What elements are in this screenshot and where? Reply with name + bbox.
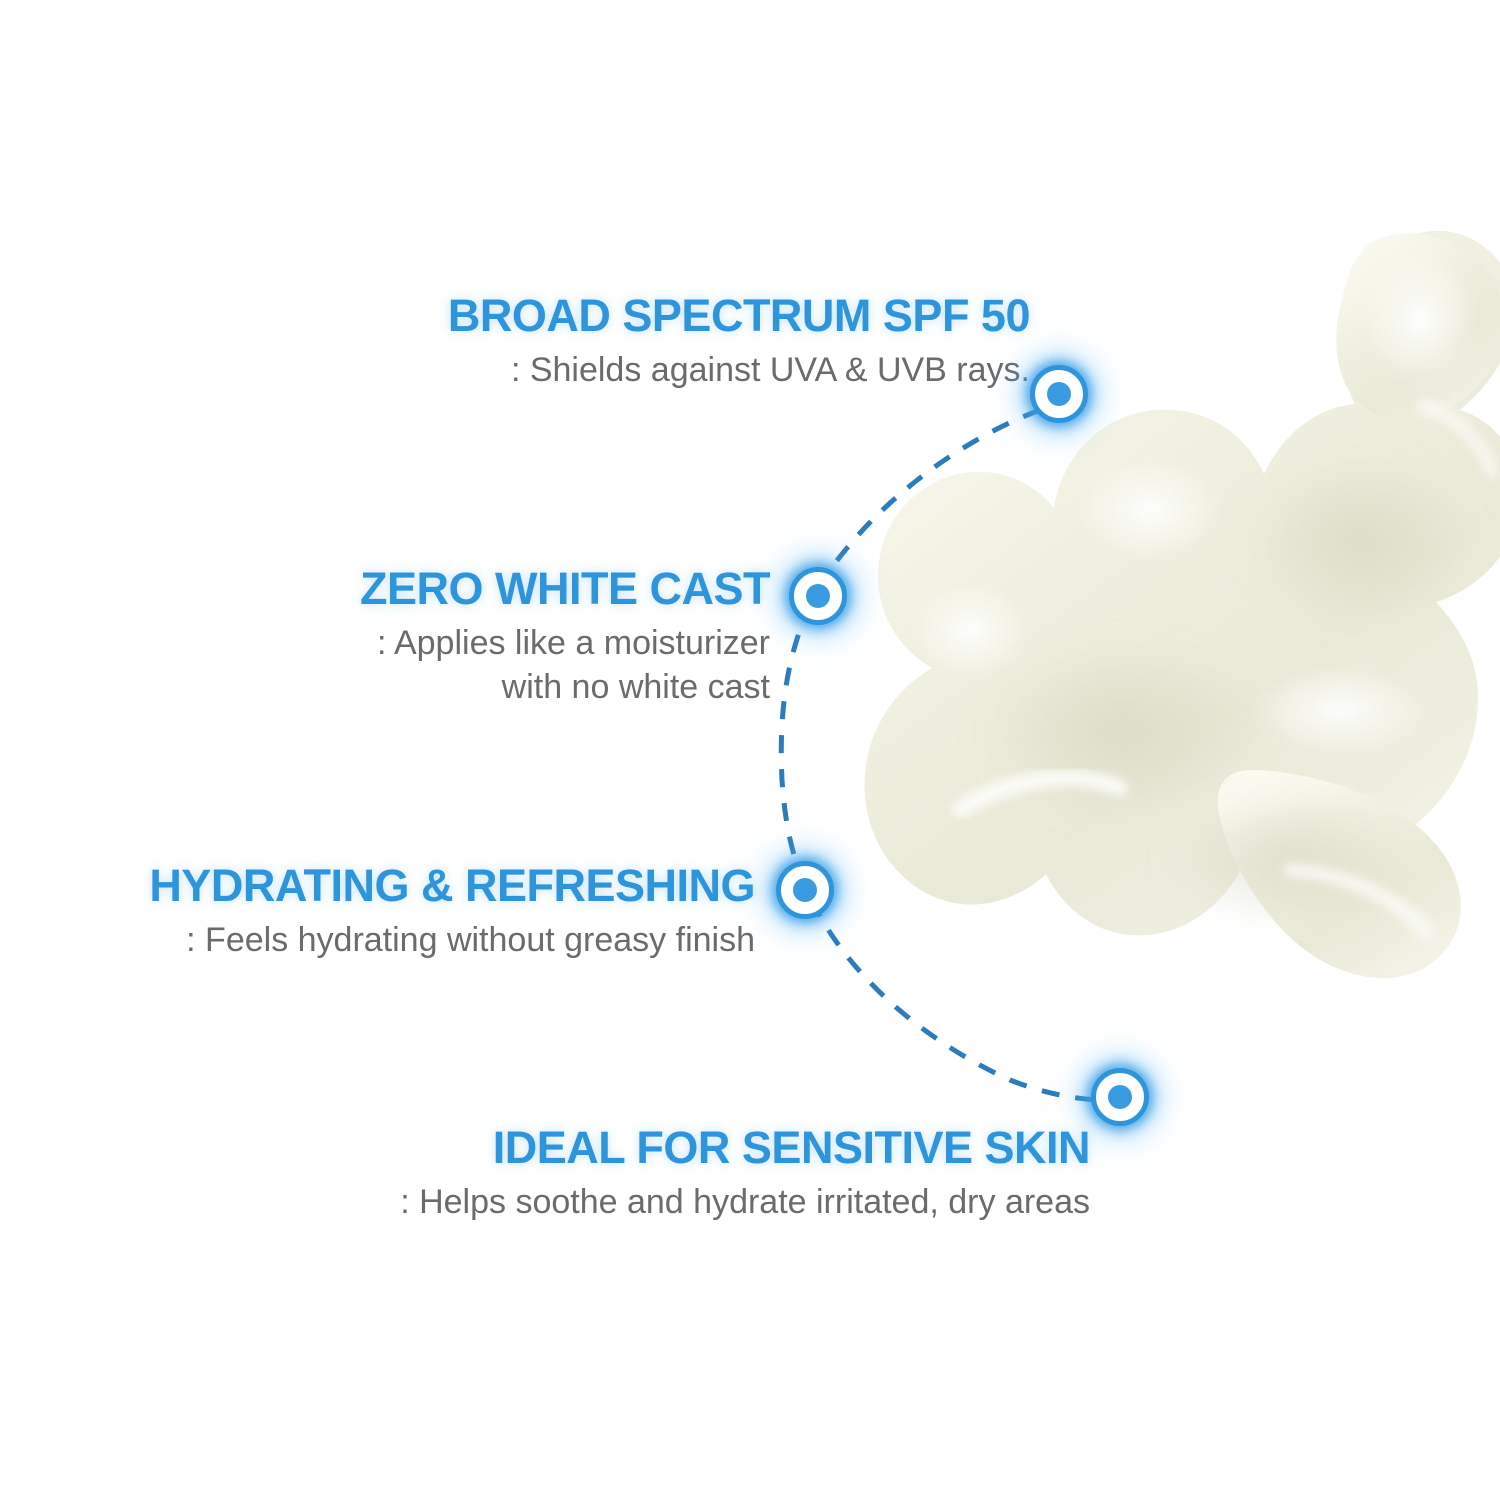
feature-marker-4: [1091, 1068, 1149, 1126]
feature-desc-1: : Shields against UVA & UVB rays.: [330, 348, 1030, 392]
marker-dot-icon: [1047, 382, 1071, 406]
feature-block-4: IDEAL FOR SENSITIVE SKIN : Helps soothe …: [300, 1124, 1090, 1224]
cream-highlight-streak-3: [1424, 406, 1492, 472]
feature-block-2: ZERO WHITE CAST : Applies like a moistur…: [280, 565, 770, 710]
feature-desc-3: : Feels hydrating without greasy finish: [100, 918, 755, 962]
dashed-arc-path: [781, 410, 1105, 1100]
cream-highlight-1: [1362, 250, 1478, 390]
feature-block-1: BROAD SPECTRUM SPF 50 : Shields against …: [330, 292, 1030, 392]
feature-title-1: BROAD SPECTRUM SPF 50: [330, 292, 1030, 339]
cream-highlight-streak-2: [1290, 870, 1426, 932]
feature-marker-3: [776, 861, 834, 919]
cream-lobe-top: [1336, 233, 1500, 421]
feature-marker-1: [1030, 365, 1088, 423]
marker-dot-icon: [793, 878, 817, 902]
feature-desc-4: : Helps soothe and hydrate irritated, dr…: [300, 1180, 1090, 1224]
feature-desc-2-line-1: : Applies like a moisturizer: [280, 621, 770, 665]
connector-arc: [0, 0, 1500, 1500]
cream-shade-2: [1240, 450, 1480, 630]
cream-tail: [1218, 770, 1461, 978]
feature-marker-2: [789, 567, 847, 625]
cream-highlight-streak-1: [960, 778, 1120, 810]
cream-shade-3: [1160, 790, 1420, 930]
feature-desc-2-line-2: with no white cast: [280, 665, 770, 709]
infographic-canvas: BROAD SPECTRUM SPF 50 : Shields against …: [0, 0, 1500, 1500]
feature-title-2: ZERO WHITE CAST: [280, 565, 770, 612]
feature-desc-2: : Applies like a moisturizer with no whi…: [280, 621, 770, 709]
cream-highlight-4: [1250, 664, 1430, 756]
feature-block-3: HYDRATING & REFRESHING : Feels hydrating…: [100, 862, 755, 962]
feature-title-4: IDEAL FOR SENSITIVE SKIN: [300, 1124, 1090, 1171]
cream-shade-1: [970, 635, 1270, 825]
cream-highlight-2: [1078, 458, 1222, 562]
marker-dot-icon: [1108, 1085, 1132, 1109]
marker-dot-icon: [806, 584, 830, 608]
feature-title-3: HYDRATING & REFRESHING: [100, 862, 755, 909]
cream-highlight-3: [912, 582, 1028, 678]
